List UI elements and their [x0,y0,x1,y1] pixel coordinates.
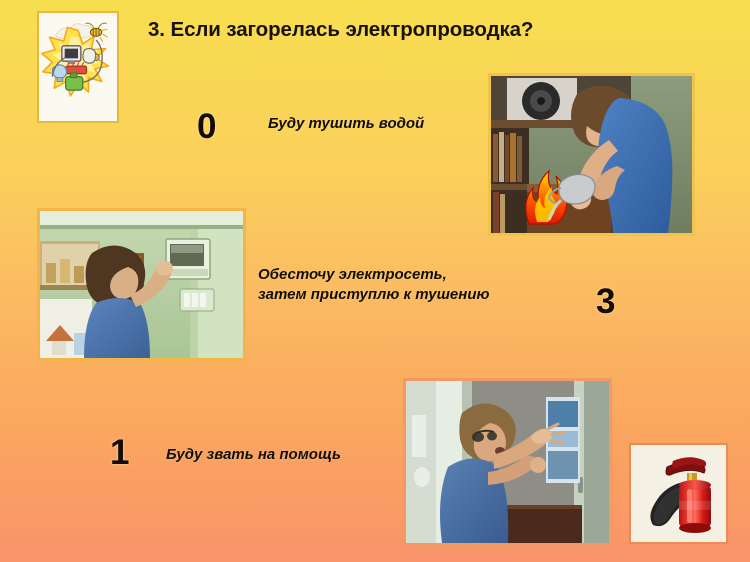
fire-extinguisher-frame [629,443,728,544]
appliance-illustration-icon [39,13,117,121]
photo-calling-for-help-frame [403,378,612,546]
photo-pouring-water-frame [488,73,695,236]
photo-pouring-water [491,76,692,233]
option-score-help: 1 [110,435,129,470]
quiz-slide: 3. Если загорелась электропроводка? 0 Бу… [0,0,750,562]
option-label-power-line2: затем приступлю к тушению [258,285,568,305]
option-score-water: 0 [197,109,216,144]
photo-breaker-panel-frame [37,208,246,361]
option-score-power: 3 [596,284,615,319]
option-label-help[interactable]: Буду звать на помощь [166,445,341,465]
option-label-power[interactable]: Обесточу электросеть, затем приступлю к … [258,265,568,305]
photo-breaker-panel [40,211,243,358]
option-label-water[interactable]: Буду тушить водой [268,114,424,134]
photo-calling-for-help [406,381,609,543]
option-label-power-line1: Обесточу электросеть, [258,265,568,285]
slide-title: 3. Если загорелась электропроводка? [148,18,708,42]
fire-extinguisher-icon [631,445,726,542]
appliance-illustration-frame [37,11,119,123]
